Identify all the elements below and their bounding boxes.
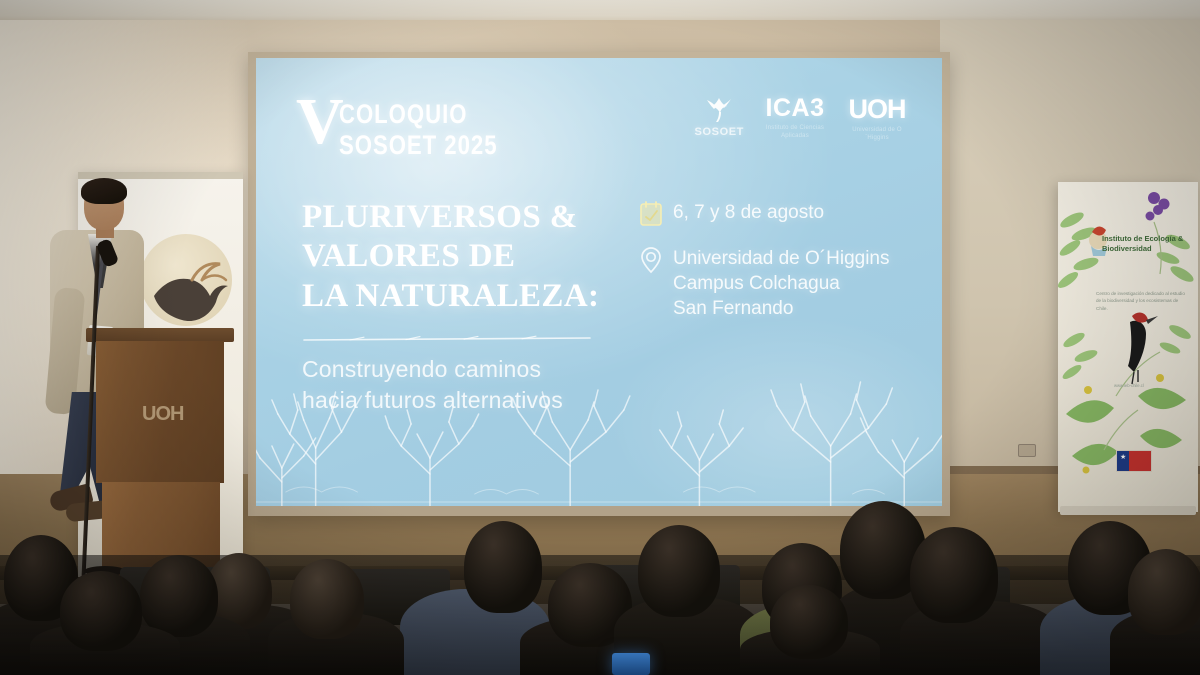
location-pin-icon <box>638 246 664 274</box>
slide-title: PLURIVERSOS & VALORES DE LA NATURALEZA: <box>302 198 599 316</box>
uoh-logo: UOH Universidad de O´Higgins <box>846 94 908 142</box>
speaker-hair <box>81 178 127 204</box>
audience <box>0 475 1200 675</box>
event-date: 6, 7 y 8 de agosto <box>673 200 824 225</box>
ieb-roll-up-banner: Instituto de Ecología & Biodiversidad Ce… <box>1058 182 1198 512</box>
sosoet-wordmark: SOSOET <box>695 126 744 138</box>
ica3-wordmark: ICA3 <box>766 94 825 123</box>
title-line-2: VALORES DE <box>302 237 599 276</box>
ieb-banner-title: Instituto de Ecología & Biodiversidad <box>1102 234 1188 254</box>
audience-head <box>60 571 142 651</box>
ica3-subtext: Instituto de Ciencias Aplicadas <box>764 125 826 140</box>
audience-head <box>638 525 720 617</box>
venue-line-2: Campus Colchagua <box>673 271 890 296</box>
projection-screen: V COLOQUIO SOSOET 2025 SOSOET <box>248 52 950 516</box>
event-name: COLOQUIO SOSOET 2025 <box>339 99 532 162</box>
slide-logo-row: SOSOET ICA3 Instituto de Ciencias Aplica… <box>695 94 908 142</box>
calendar-icon <box>638 200 664 228</box>
event-line-1: COLOQUIO <box>339 99 498 130</box>
roman-numeral-v: V <box>296 94 342 151</box>
audience-head <box>464 521 542 613</box>
ica3-logo: ICA3 Instituto de Ciencias Aplicadas <box>764 94 826 140</box>
phone-screen-glow <box>612 653 650 675</box>
ieb-banner-small-text: www.ieb-chile.cl <box>1114 382 1176 389</box>
uoh-subtext: Universidad de O´Higgins <box>846 127 908 142</box>
lectern-wordmark: UOH <box>142 403 183 426</box>
audience-head <box>140 555 218 637</box>
conference-photo: V COLOQUIO SOSOET 2025 SOSOET <box>0 0 1200 675</box>
wall-outlet-icon <box>1018 444 1036 457</box>
audience-head <box>910 527 998 623</box>
lectern-upper-panel: UOH <box>96 341 224 483</box>
flag-star-icon: ★ <box>1120 454 1126 461</box>
audience-head <box>770 585 848 659</box>
title-line-1: PLURIVERSOS & <box>302 198 599 237</box>
presentation-slide: V COLOQUIO SOSOET 2025 SOSOET <box>256 58 942 506</box>
sosoet-logo: SOSOET <box>695 94 744 138</box>
bird-glyph-icon <box>702 94 736 124</box>
uoh-wordmark: UOH <box>849 94 906 125</box>
lectern-top <box>86 328 234 342</box>
flag-red-block <box>1129 451 1151 471</box>
event-line-2: SOSOET 2025 <box>339 130 498 161</box>
ieb-banner-body: Centro de investigación dedicado al estu… <box>1096 290 1188 312</box>
audience-head <box>290 559 364 639</box>
date-row: 6, 7 y 8 de agosto <box>638 200 928 228</box>
audience-head <box>1128 549 1200 635</box>
venue-line-1: Universidad de O´Higgins <box>673 246 890 271</box>
